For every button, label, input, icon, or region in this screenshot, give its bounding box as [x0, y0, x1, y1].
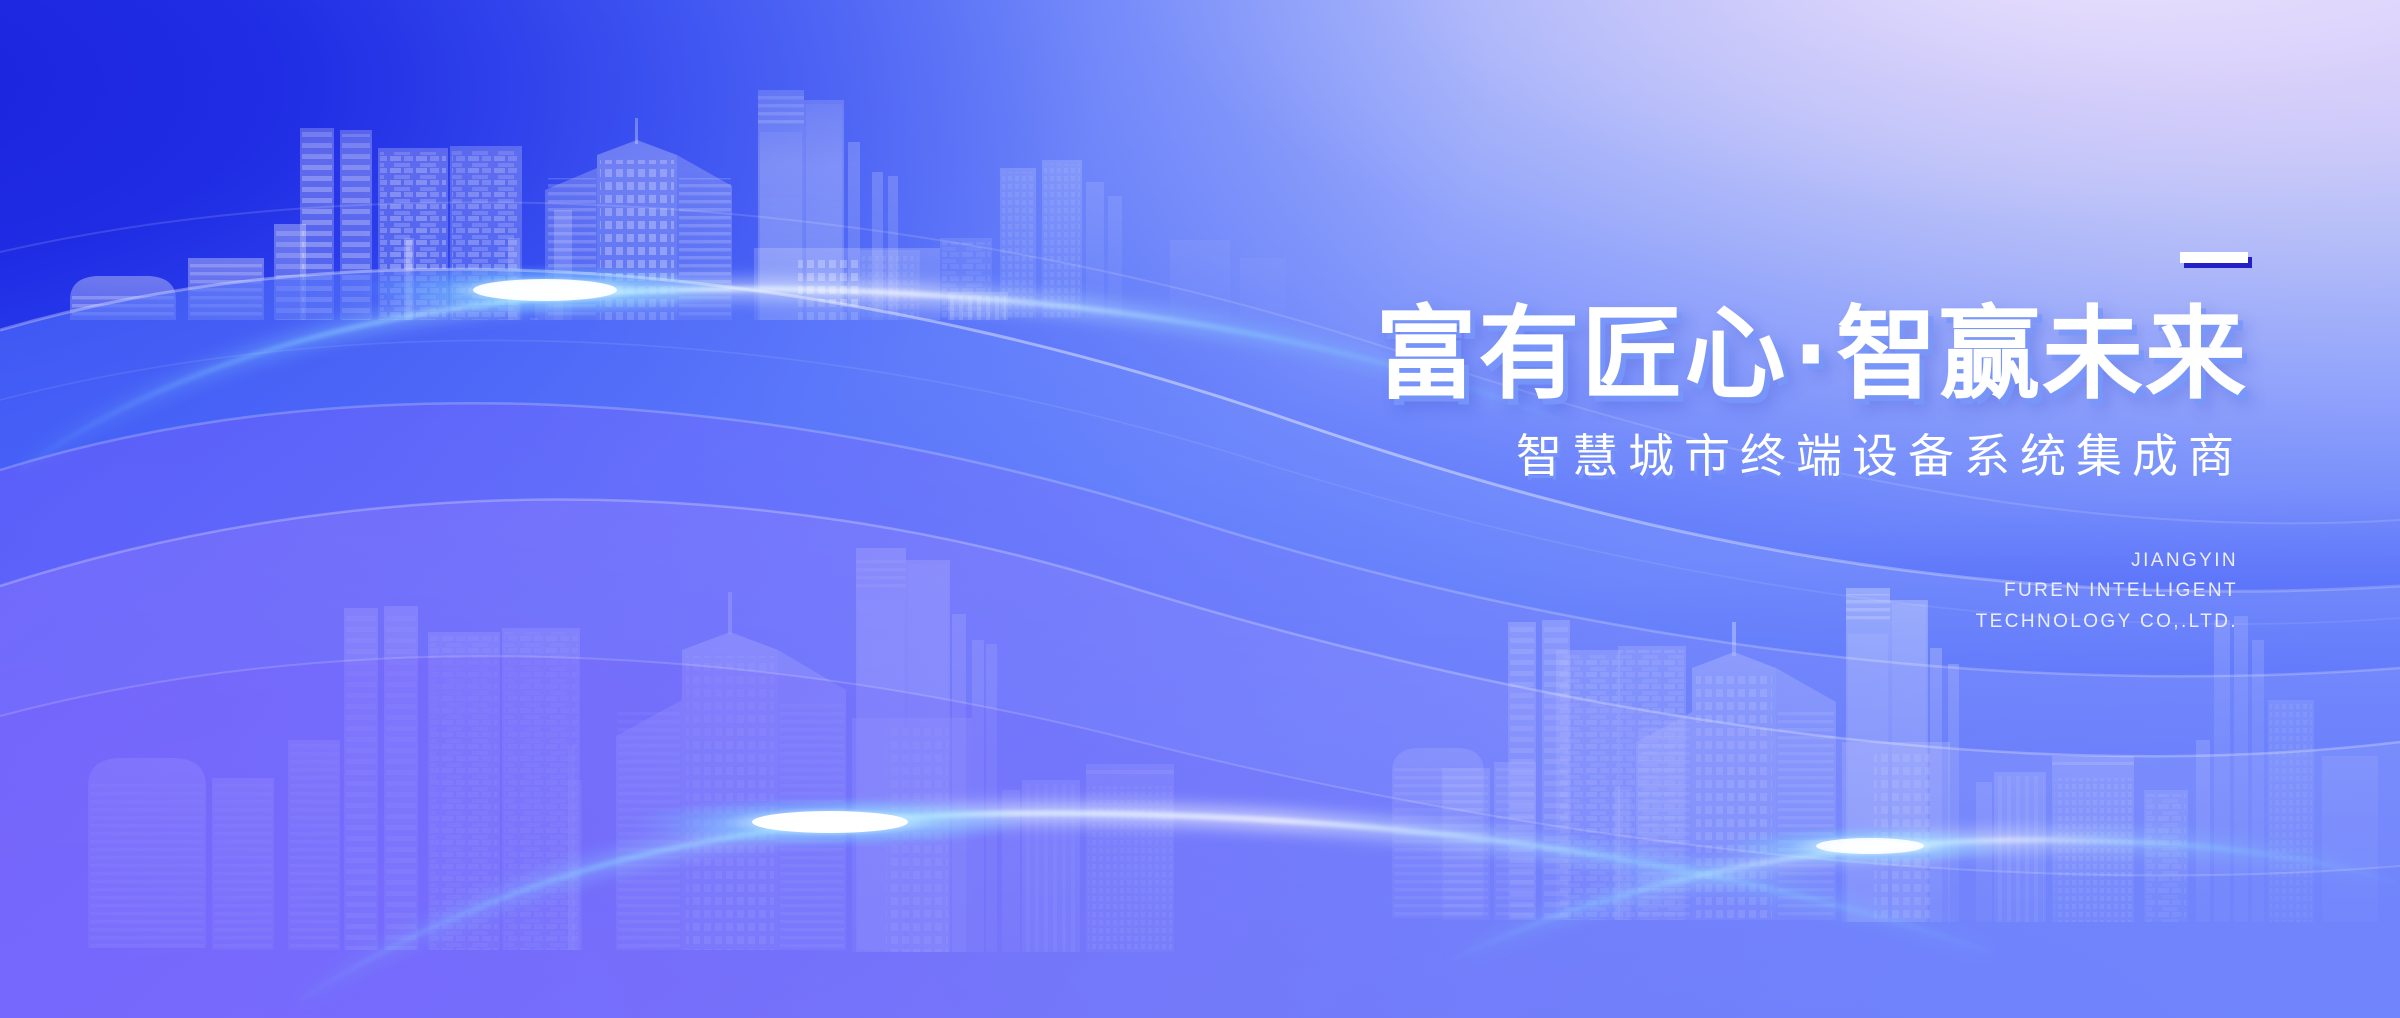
headline-left: 富有匠心 — [1375, 295, 1787, 413]
company-line-3: TECHNOLOGY CO,.LTD. — [1128, 607, 2238, 638]
headline-right: 智赢未来 — [1836, 295, 2248, 413]
accent-dash-mark — [2180, 252, 2248, 263]
page-subtitle: 智慧城市终端设备系统集成商 — [1128, 431, 2248, 482]
page-title: 富有匠心·智赢未来 — [1128, 304, 2248, 405]
glowing-arc-right — [1450, 826, 2400, 960]
company-line-2: FUREN INTELLIGENT — [1128, 576, 2238, 607]
banner-poster: 富有匠心·智赢未来 智慧城市终端设备系统集成商 JIANGYIN FUREN I… — [0, 0, 2400, 1018]
glowing-arc-bottom — [300, 796, 1990, 1000]
headline-separator-dot: · — [1787, 295, 1836, 413]
banner-content: 富有匠心·智赢未来 智慧城市终端设备系统集成商 JIANGYIN FUREN I… — [1128, 252, 2248, 638]
company-line-1: JIANGYIN — [1128, 546, 2238, 577]
company-name-en: JIANGYIN FUREN INTELLIGENT TECHNOLOGY CO… — [1128, 546, 2248, 638]
